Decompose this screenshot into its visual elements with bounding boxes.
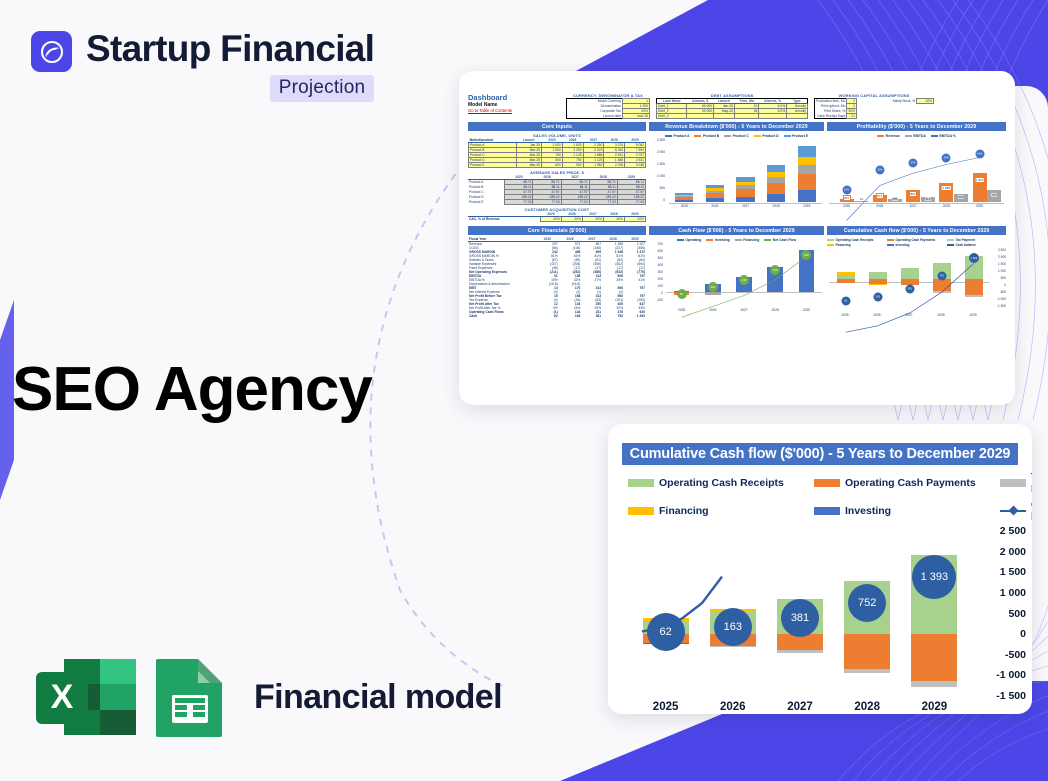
x-tick: 2027 bbox=[905, 313, 912, 317]
swirl-logo-icon bbox=[31, 31, 72, 72]
legend-swatch bbox=[814, 479, 840, 487]
y-tick: 600 bbox=[658, 249, 663, 253]
brand-title: Startup Financial bbox=[86, 27, 374, 71]
y-tick: 1 000 bbox=[657, 174, 665, 178]
x-tick: 2027 bbox=[787, 701, 813, 713]
legend-item: EBITDA % bbox=[931, 134, 956, 138]
legend-swatch bbox=[628, 507, 654, 515]
cash-bubble: 62 bbox=[841, 297, 850, 306]
legend-item: Product B bbox=[694, 134, 719, 138]
x-tick: 2028 bbox=[854, 701, 880, 713]
y-tick: 1 000 bbox=[998, 269, 1006, 273]
ap-cell: 77.03 bbox=[561, 200, 589, 205]
wc-row-value[interactable]: 30% bbox=[847, 109, 857, 114]
cumulative-cash-flow-mini-chart: Operating Cash Receipts Operating Cash P… bbox=[827, 237, 1006, 325]
cash-balance-line bbox=[829, 249, 989, 348]
legend-label: Financing bbox=[659, 505, 709, 517]
average-price-table: 2025 2026 2027 2028 2029 Product A 58.71… bbox=[468, 175, 646, 205]
y-tick: -1 500 bbox=[996, 690, 1026, 702]
debt-cell[interactable] bbox=[787, 114, 808, 119]
pct-bubble: 39% bbox=[942, 154, 951, 163]
x-tick: 2028 bbox=[943, 204, 950, 208]
legend-item: Product D bbox=[754, 134, 779, 138]
y-tick: 2 500 bbox=[657, 138, 665, 142]
cash-flow-band: Cash Flow ($'000) - 5 Years to December … bbox=[649, 226, 824, 235]
net-cash-flow-line bbox=[666, 244, 822, 338]
x-tick: 2027 bbox=[740, 308, 747, 312]
legend-label: Product E bbox=[792, 134, 808, 138]
cash-bubble: 381 bbox=[905, 285, 914, 294]
brand-lockup: Startup Financial Projection bbox=[31, 27, 374, 102]
legend-label: Investing bbox=[715, 238, 730, 242]
x-tick: 2025 bbox=[841, 313, 848, 317]
stacked-bar bbox=[767, 165, 785, 202]
y-tick: 300 bbox=[658, 270, 663, 274]
y-tick: 2 000 bbox=[1000, 546, 1026, 558]
revenue-breakdown-chart: Product A Product B Product C Product D … bbox=[649, 133, 824, 222]
cac-cell[interactable]: 20% bbox=[540, 217, 561, 222]
y-tick: 2 000 bbox=[657, 150, 665, 154]
net-cash-bubble: 163 bbox=[708, 282, 718, 292]
footer-label: Financial model bbox=[254, 678, 502, 717]
legend-item: EBITDA bbox=[905, 134, 926, 138]
y-tick: 2 500 bbox=[998, 248, 1006, 252]
currency-caption: CURRENCY, DENOMINATOR & TAX bbox=[566, 93, 650, 98]
sv-cell[interactable]: Product E bbox=[469, 163, 517, 168]
safety-stock-table: Safety Stock, % 10% bbox=[859, 98, 934, 104]
legend-item: Net Cash Flow bbox=[764, 238, 796, 242]
y-axis: 2 5002 0001 5001 0005000-500-1 000-1 500 bbox=[974, 531, 1026, 696]
dashboard-preview-card: Dashboard Model Name Go to Table of Cont… bbox=[459, 71, 1015, 405]
cash-bubble: 1 393 bbox=[969, 253, 979, 263]
pct-bubble: 41% bbox=[975, 150, 984, 159]
y-tick: -500 bbox=[1000, 290, 1006, 294]
cash-balance-line-layer bbox=[632, 531, 732, 696]
legend-label: Operating Cash Receipts bbox=[659, 477, 784, 489]
y-tick: 0 bbox=[1004, 283, 1006, 287]
ap-cell: 77.03 bbox=[533, 200, 561, 205]
bar-segment bbox=[777, 634, 823, 650]
currency-row-value[interactable]: mar-25 bbox=[623, 114, 650, 119]
x-tick: 2029 bbox=[803, 204, 810, 208]
stacked-bar bbox=[844, 531, 890, 696]
sv-cell[interactable]: Mar-25 bbox=[516, 163, 541, 168]
profitability-chart: Revenue EBITDA EBITDA % bbox=[827, 133, 1006, 222]
sv-cell[interactable]: 3 038 bbox=[625, 163, 646, 168]
y-tick: 500 bbox=[660, 186, 665, 190]
legend-swatch bbox=[1000, 479, 1026, 487]
legend-item: Product C bbox=[724, 134, 749, 138]
legend-line-swatch bbox=[1000, 506, 1026, 516]
swirl-glyph bbox=[39, 39, 65, 65]
cac-row-label: CAC, % of Revenue bbox=[468, 217, 540, 222]
working-capital-table: Production time, Mo 2 Print upfront, Mo … bbox=[814, 98, 857, 119]
ap-cell: 77.03 bbox=[505, 200, 533, 205]
pct-bubble: 37% bbox=[909, 159, 918, 168]
revenue-breakdown-band: Revenue Breakdown ($'000) - 5 Years to D… bbox=[649, 122, 824, 131]
page-title: SEO Agency bbox=[12, 355, 372, 425]
x-tick: 2027 bbox=[909, 204, 916, 208]
legend-label: Revenue bbox=[886, 134, 900, 138]
ap-cell: Product E bbox=[468, 200, 505, 205]
wc-row-label: Cash Receipt Days bbox=[815, 114, 847, 119]
y-tick: 700 bbox=[658, 242, 663, 246]
x-tick: 2026 bbox=[873, 313, 880, 317]
core-financials-body: Revenue2975718571 2851 927COGS(56)(106)(… bbox=[468, 242, 646, 319]
bar-segment bbox=[844, 581, 890, 634]
cac-cell[interactable]: 20% bbox=[624, 217, 645, 222]
legend-label: Cash balance bbox=[1031, 499, 1032, 523]
sv-cell[interactable]: 900 bbox=[562, 163, 583, 168]
y-tick: 1 500 bbox=[1000, 566, 1026, 578]
legend-item: Investing bbox=[706, 238, 729, 242]
currency-table: Model Currency 1 Denomination 1 000 Corp… bbox=[566, 98, 650, 119]
legend-investing: Investing bbox=[814, 499, 1000, 523]
y-tick: -100 bbox=[657, 298, 663, 302]
dashboard-toc-link[interactable]: Go to Table of Contents bbox=[468, 108, 560, 113]
bar-segment bbox=[777, 599, 823, 634]
y-tick: 500 bbox=[1008, 608, 1026, 620]
x-tick: 2026 bbox=[711, 204, 718, 208]
pct-bubble: 32% bbox=[875, 166, 884, 175]
debt-cell[interactable] bbox=[734, 114, 758, 119]
debt-cell[interactable] bbox=[687, 114, 714, 119]
legend-item: Product E bbox=[784, 134, 809, 138]
x-tick: 2026 bbox=[709, 308, 716, 312]
y-tick: 100 bbox=[658, 284, 663, 288]
y-tick: 2 000 bbox=[998, 255, 1006, 259]
net-cash-bubble: 375 bbox=[770, 265, 780, 275]
cf-cell: 381 bbox=[581, 314, 602, 318]
legend-swatch bbox=[814, 507, 840, 515]
x-tick: 2025 bbox=[843, 204, 850, 208]
bar-segment bbox=[911, 555, 957, 634]
stacked-bar bbox=[736, 177, 754, 202]
ap-cell: 77.03 bbox=[589, 200, 617, 205]
x-tick: 2028 bbox=[772, 308, 779, 312]
x-tick: 2028 bbox=[773, 204, 780, 208]
x-tick: 2028 bbox=[937, 313, 944, 317]
legend-label: Product C bbox=[733, 134, 749, 138]
bar-column bbox=[834, 531, 901, 696]
cash-flow-chart: Operating Investing Financing Net Cash F… bbox=[649, 237, 824, 325]
cf-cell: 62 bbox=[536, 314, 559, 318]
microsoft-excel-icon: X bbox=[34, 655, 140, 739]
y-tick: -500 bbox=[1005, 649, 1026, 661]
x-tick: 2026 bbox=[720, 701, 746, 713]
cac-cell[interactable]: 20% bbox=[603, 217, 624, 222]
profitability-band: Profitability ($'000) - 5 Years to Decem… bbox=[827, 122, 1006, 131]
x-axis: 20252026202720282029 bbox=[632, 701, 968, 714]
y-tick: 200 bbox=[658, 277, 663, 281]
svg-text:X: X bbox=[51, 678, 74, 716]
y-tick: 1 500 bbox=[998, 262, 1006, 266]
bar-column bbox=[901, 531, 968, 696]
legend-label: Product B bbox=[703, 134, 719, 138]
legend-label: Operating bbox=[685, 238, 701, 242]
y-tick: 0 bbox=[661, 291, 663, 295]
debt-table: Loan Name Amount, $ Launch Term, Mo Inte… bbox=[656, 98, 808, 119]
legend-cash-balance: Cash balance bbox=[1000, 499, 1032, 523]
legend-tax-payment: Tax Payment bbox=[1000, 471, 1032, 495]
bar-segment bbox=[844, 669, 890, 673]
x-tick: 2029 bbox=[969, 313, 976, 317]
safety-stock-label: Safety Stock, % bbox=[859, 99, 917, 104]
legend-label: Product A bbox=[673, 134, 689, 138]
stacked-bar bbox=[706, 185, 724, 202]
legend-swatch bbox=[628, 479, 654, 487]
pct-bubble: 10% bbox=[842, 186, 851, 195]
y-tick: 0 bbox=[1020, 628, 1026, 640]
legend-item: Financing bbox=[735, 238, 760, 242]
currency-row-label: Launch date bbox=[567, 114, 623, 119]
legend-label: Product D bbox=[762, 134, 778, 138]
legend-operating-cash-receipts: Operating Cash Receipts bbox=[628, 471, 814, 495]
bar-segment bbox=[911, 681, 957, 688]
legend-label: Financing bbox=[743, 238, 759, 242]
cf-cell: 1 393 bbox=[624, 314, 646, 318]
core-inputs-band: Core Inputs bbox=[468, 122, 646, 131]
y-tick: 1 500 bbox=[657, 162, 665, 166]
stacked-bar bbox=[911, 531, 957, 696]
core-financials-band: Core Financials ($'000) bbox=[468, 226, 646, 235]
debt-cell[interactable] bbox=[759, 114, 787, 119]
x-tick: 2027 bbox=[742, 204, 749, 208]
legend-operating-cash-payments: Operating Cash Payments bbox=[814, 471, 1000, 495]
stacked-bar bbox=[777, 531, 823, 696]
brand-text-block: Startup Financial Projection bbox=[86, 27, 374, 102]
stacked-bar bbox=[798, 146, 816, 202]
cf-row-label: Cash bbox=[468, 314, 536, 318]
cash-bubble: 163 bbox=[873, 293, 882, 302]
debt-cell[interactable]: Debt_3 bbox=[657, 114, 687, 119]
net-cash-bubble: 218 bbox=[739, 275, 749, 285]
y-tick: 500 bbox=[658, 256, 663, 260]
x-tick: 2029 bbox=[976, 204, 983, 208]
x-tick: 2029 bbox=[922, 701, 948, 713]
x-tick: 2029 bbox=[803, 308, 810, 312]
sv-cell[interactable]: 2 025 bbox=[604, 163, 625, 168]
google-sheets-icon bbox=[152, 655, 228, 739]
y-tick: 0 bbox=[663, 198, 665, 202]
legend-label: Investing bbox=[845, 505, 891, 517]
poster-stage: Startup Financial Projection SEO Agency … bbox=[0, 0, 1048, 781]
legend-label: Net Cash Flow bbox=[773, 238, 796, 242]
debt-cell[interactable] bbox=[714, 114, 735, 119]
table-row: Cash621633817521 393 bbox=[468, 314, 646, 318]
core-financials-table: Fiscal Year 2025 2026 2027 2028 2029 Rev… bbox=[468, 237, 646, 318]
x-tick: 2025 bbox=[653, 701, 679, 713]
bar-segment bbox=[911, 634, 957, 680]
dashboard-sheet: Dashboard Model Name Go to Table of Cont… bbox=[468, 93, 1006, 383]
brand-subtitle-badge: Projection bbox=[270, 75, 375, 102]
y-tick: 1 000 bbox=[1000, 587, 1026, 599]
chart-plot-area: 2 5002 0001 5001 0005000-500-1 000-1 500… bbox=[608, 531, 1032, 711]
legend-label: EBITDA bbox=[913, 134, 926, 138]
y-tick: -1 500 bbox=[997, 304, 1006, 308]
sales-volume-table: Market/product Launch 2025 2026 2027 202… bbox=[468, 138, 646, 168]
cac-cell[interactable]: 20% bbox=[582, 217, 603, 222]
y-tick: 400 bbox=[658, 263, 663, 267]
cumulative-cash-flow-card: Cumulative Cash flow ($'000) - 5 Years t… bbox=[608, 424, 1032, 714]
chart-title: Cumulative Cash flow ($'000) - 5 Years t… bbox=[622, 443, 1018, 465]
cac-cell[interactable]: 20% bbox=[561, 217, 582, 222]
cf-cell: 752 bbox=[602, 314, 624, 318]
net-cash-bubble: 62 bbox=[677, 289, 687, 299]
safety-stock-value[interactable]: 10% bbox=[917, 99, 934, 104]
bar-segment bbox=[844, 634, 890, 669]
y-tick: 500 bbox=[1001, 276, 1006, 280]
legend-item: Product A bbox=[665, 134, 690, 138]
bar-segment bbox=[777, 650, 823, 653]
y-tick: 2 500 bbox=[1000, 525, 1026, 537]
y-tick: -1 000 bbox=[996, 669, 1026, 681]
x-tick: 2025 bbox=[678, 308, 685, 312]
sv-cell[interactable]: 600 bbox=[542, 163, 563, 168]
cf-cell: 163 bbox=[559, 314, 582, 318]
cac-table: 2025 2026 2027 2028 2029 CAC, % of Reven… bbox=[468, 212, 646, 222]
legend-item: Revenue bbox=[877, 134, 900, 138]
chart-legend: Operating Cash Receipts Operating Cash P… bbox=[628, 471, 1012, 523]
legend-label: EBITDA % bbox=[939, 134, 955, 138]
net-cash-bubble: 640 bbox=[801, 250, 811, 260]
legend-label: Tax Payment bbox=[1031, 471, 1032, 495]
legend-financing: Financing bbox=[628, 499, 814, 523]
bar-column bbox=[766, 531, 833, 696]
legend-item: Operating bbox=[677, 238, 702, 242]
footer-logos: X Financial model bbox=[34, 655, 502, 739]
wc-row-label: Production time, Mo bbox=[815, 99, 847, 104]
legend-label: Operating Cash Payments bbox=[845, 477, 976, 489]
dashboard-title: Dashboard bbox=[468, 93, 560, 102]
sv-cell[interactable]: 1 350 bbox=[583, 163, 604, 168]
y-tick: -1 000 bbox=[997, 297, 1006, 301]
x-tick: 2025 bbox=[681, 204, 688, 208]
stacked-bar bbox=[675, 193, 693, 202]
ap-cell: 77.03 bbox=[617, 200, 645, 205]
x-tick: 2026 bbox=[876, 204, 883, 208]
cash-bubble: 752 bbox=[937, 272, 946, 281]
wc-row-value[interactable]: 21 bbox=[847, 114, 857, 119]
